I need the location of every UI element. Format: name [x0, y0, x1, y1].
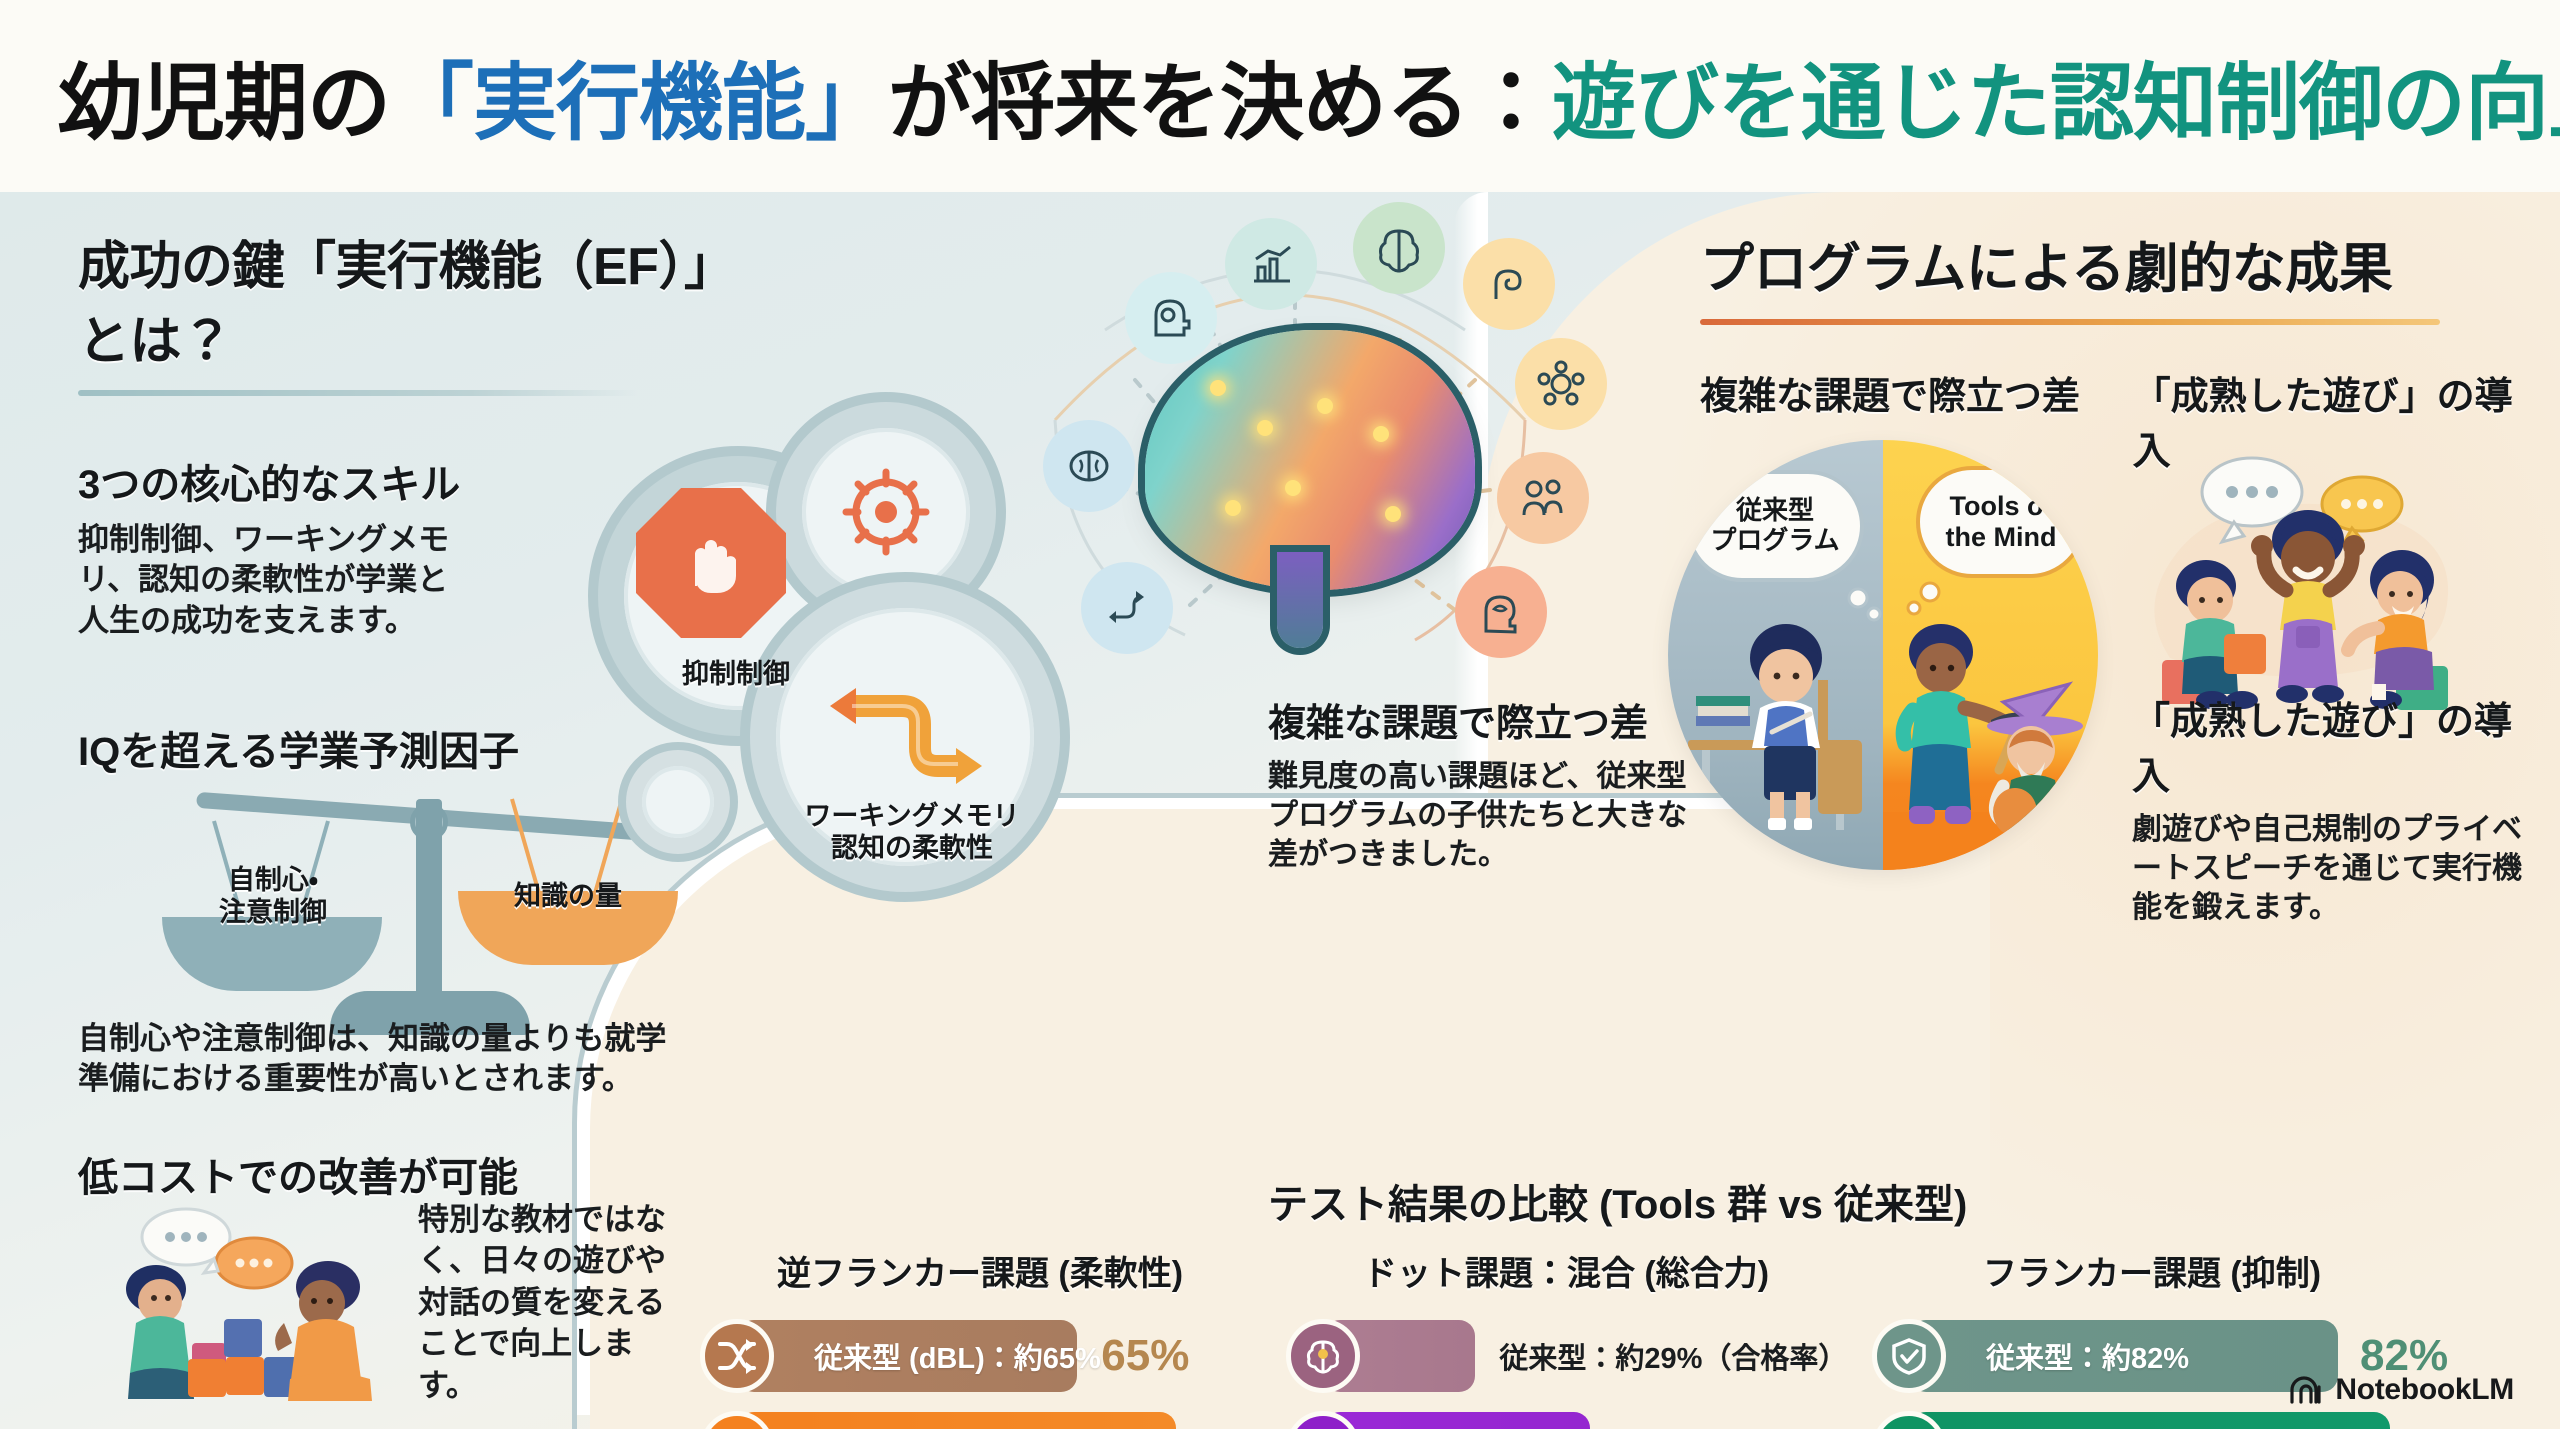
left-section-rule [78, 390, 638, 396]
scale-label-left: 自制心・ 注意制御 [178, 865, 368, 929]
left-block-skills-body: 抑制制御、ワーキングメモリ、認知の柔軟性が学業と人生の成功を支えます。 [78, 520, 478, 641]
right-section-title: プログラムによる劇的な成果 [1700, 224, 2520, 303]
brain-spark [1285, 480, 1301, 496]
program-comparison-pie: 従来型 プログラム Tools of the Mind [1668, 440, 2098, 870]
stop-octagon-icon [636, 488, 786, 638]
inhibition-stop-badge [636, 488, 786, 638]
gear-label-inhibition: 抑制制御 [656, 658, 816, 690]
scale-post [416, 799, 442, 999]
left-block-lowcost-body: 特別な教材ではなく、日々の遊びや対話の質を変えることで向上します。 [418, 1199, 688, 1407]
test-results-charts: テスト結果の比較 (Tools 群 vs 従来型) 逆フランカー課題 (柔軟性)… [700, 1172, 2520, 1429]
bar-outside-label: 従来型：約29%（合格率） [1499, 1335, 1847, 1377]
node-brain-halves-icon [1043, 420, 1135, 512]
card-complex-task: 複雑な課題で際立つ差 難見度の高い課題ほど、従来型プログラムの子供たちと大きな差… [1268, 692, 1698, 874]
brain-spark [1210, 380, 1226, 396]
pie-label-tools-line2: the Mind [1946, 522, 2057, 553]
bar-row: Tools 群：約92% 92% [1872, 1409, 2432, 1429]
bar-row: 従来型：約29%（合格率） [1286, 1317, 1846, 1395]
scale-label-right: 知識の量 [458, 881, 678, 913]
bar-value: 65% [1101, 1331, 1189, 1381]
hand-stop-icon [672, 524, 750, 602]
shield-check-icon [1872, 1319, 1946, 1393]
brain-spark [1257, 420, 1273, 436]
header-band: 幼児期の「実行機能」が将来を決める：遊びを通じた認知制御の向上 [0, 0, 2560, 192]
scale-string-right-a [510, 798, 540, 891]
bar-track: 51% [1324, 1412, 1846, 1429]
pie-label-traditional-line2: プログラム [1710, 526, 1839, 556]
charts-title: テスト結果の比較 (Tools 群 vs 従来型) [1268, 1172, 2520, 1230]
card-mature-play-body: 劇遊びや自己規制のプライベートスピーチを通じて実行機能を鍛えます。 [2132, 810, 2532, 927]
bar-fill [1324, 1412, 1590, 1429]
left-section-title: 成功の鍵「実行機能（EF）」とは？ [78, 224, 718, 374]
pie-label-traditional: 従来型 プログラム [1686, 470, 1864, 582]
thought-bubble-dots-right [1904, 580, 1944, 620]
infographic-root: 幼児期の「実行機能」が将来を決める：遊びを通じた認知制御の向上 成功の鍵「実行機… [0, 0, 2560, 1429]
card-complex-task-title: 複雑な課題で際立つ差 [1268, 692, 1698, 747]
kids-blocks-illustration [114, 1203, 404, 1413]
bar-track: Tools 群：約84% 84% [738, 1412, 1260, 1429]
thought-bubble-dots-left [1846, 586, 1886, 626]
bar-row: 51% [1286, 1409, 1846, 1429]
charts-row: 逆フランカー課題 (柔軟性) 従来型 (dBL)：約65% 65% [700, 1246, 2520, 1429]
title-part-3: が将来を決める： [888, 56, 1552, 150]
notebooklm-mark-icon [2289, 1375, 2323, 1405]
pie-label-tools: Tools of the Mind [1916, 466, 2086, 578]
gear-inner [802, 428, 970, 596]
bar-value: 92% [2408, 1423, 2496, 1429]
bar-fill: Tools 群：約84% [738, 1412, 1176, 1429]
bar-row: 従来型 (dBL)：約65% 65% [700, 1317, 1260, 1395]
bar-fill: Tools 群：約92% [1910, 1412, 2390, 1429]
title-part-2: 「実行機能」 [390, 56, 888, 150]
bar-value: 84% [1198, 1423, 1286, 1429]
chart-panel-dot-task: ドット課題：混合 (総合力) 従来型：約29%（合格率） [1286, 1246, 1846, 1429]
chart-panel-1-title: ドット課題：混合 (総合力) [1286, 1246, 1846, 1295]
bar-value: 51% [1616, 1423, 1704, 1429]
kids-blocks-svg [114, 1203, 404, 1413]
node-head-gears-icon [1125, 272, 1217, 364]
chart-panel-2-title: フランカー課題 (抑制) [1872, 1246, 2432, 1295]
bar-track: 従来型 (dBL)：約65% 65% [738, 1320, 1260, 1392]
gear-label-wm-line1: ワーキングメモリ [792, 800, 1032, 832]
card-mature-play: 「成熟した遊び」の導入 劇遊びや自己規制のプライベートスピーチを通じて実行機能を… [2132, 690, 2532, 927]
body-panel: 成功の鍵「実行機能（EF）」とは？ 3つの核心的なスキル 抑制制御、ワーキングメ… [0, 192, 2560, 1429]
bar-row: Tools 群：約84% 84% [700, 1409, 1260, 1429]
node-head-brain-icon [1455, 566, 1547, 658]
gear-label-wm-line2: 認知の柔軟性 [792, 832, 1032, 864]
notebooklm-logo: NotebookLM [2289, 1373, 2514, 1407]
bar-fill: 従来型：約82% [1910, 1320, 2338, 1392]
page-title: 幼児期の「実行機能」が将来を決める：遊びを通じた認知制御の向上 [58, 36, 2560, 157]
brain-spark [1385, 506, 1401, 522]
mature-play-illustration [2100, 428, 2540, 718]
scale-label-left-line1: 自制心・ [178, 865, 368, 897]
left-block-lowcost-heading: 低コストでの改善が可能 [78, 1145, 718, 1203]
chart-panel-reverse-flanker: 逆フランカー課題 (柔軟性) 従来型 (dBL)：約65% 65% [700, 1246, 1260, 1429]
right-section-rule [1700, 319, 2440, 325]
bar-track: 従来型：約29%（合格率） [1324, 1320, 1846, 1392]
brain-bulb-icon [1286, 1319, 1360, 1393]
node-growth-chart-icon [1225, 218, 1317, 310]
chart-panel-0-title: 逆フランカー課題 (柔軟性) [700, 1246, 1260, 1295]
card-mature-play-title: 「成熟した遊び」の導入 [2132, 690, 2532, 800]
brain-spark [1317, 398, 1333, 414]
node-memory-icon [1463, 238, 1555, 330]
flexibility-arrows-icon [800, 662, 1010, 812]
bar-track: Tools 群：約92% 92% [1910, 1412, 2432, 1429]
scale-label-left-line2: 注意制御 [178, 897, 368, 929]
notebooklm-logo-text: NotebookLM [2335, 1373, 2514, 1407]
bar-inline-label: 従来型 (dBL)：約65% [814, 1335, 1101, 1377]
left-block-iq-body: 自制心や注意制御は、知識の量よりも就学準備における重要性が高いとされます。 [78, 1019, 678, 1100]
gear-small-bottom [618, 742, 738, 862]
brain-spark [1373, 426, 1389, 442]
bar-fill: 従来型 (dBL)：約65% [738, 1320, 1077, 1392]
pie-label-traditional-line1: 従来型 [1710, 496, 1839, 526]
gear-inner [642, 766, 714, 838]
cog-brain-icon [838, 464, 934, 560]
card-complex-task-body: 難見度の高い課題ほど、従来型プログラムの子供たちと大きな差がつきました。 [1268, 757, 1698, 874]
brain-stem [1277, 552, 1323, 648]
title-part-4: 遊びを通じた認知制御の向上 [1552, 56, 2560, 150]
gear-label-working-memory: ワーキングメモリ 認知の柔軟性 [792, 800, 1032, 865]
shuffle-icon [700, 1319, 774, 1393]
mature-play-svg [2100, 428, 2540, 718]
bar-inline-label: 従来型：約82% [1986, 1335, 2189, 1377]
node-network-icon [1515, 338, 1607, 430]
brain-network-illustration [985, 192, 1605, 700]
brain-spark [1225, 500, 1241, 516]
node-brain-icon [1353, 202, 1445, 294]
left-block-lowcost: 低コストでの改善が可能 [78, 1145, 718, 1429]
title-part-1: 幼児期の [58, 56, 390, 150]
node-flexibility-arrows-icon [1081, 562, 1173, 654]
node-people-icon [1497, 452, 1589, 544]
pie-label-tools-line1: Tools of [1946, 491, 2057, 522]
